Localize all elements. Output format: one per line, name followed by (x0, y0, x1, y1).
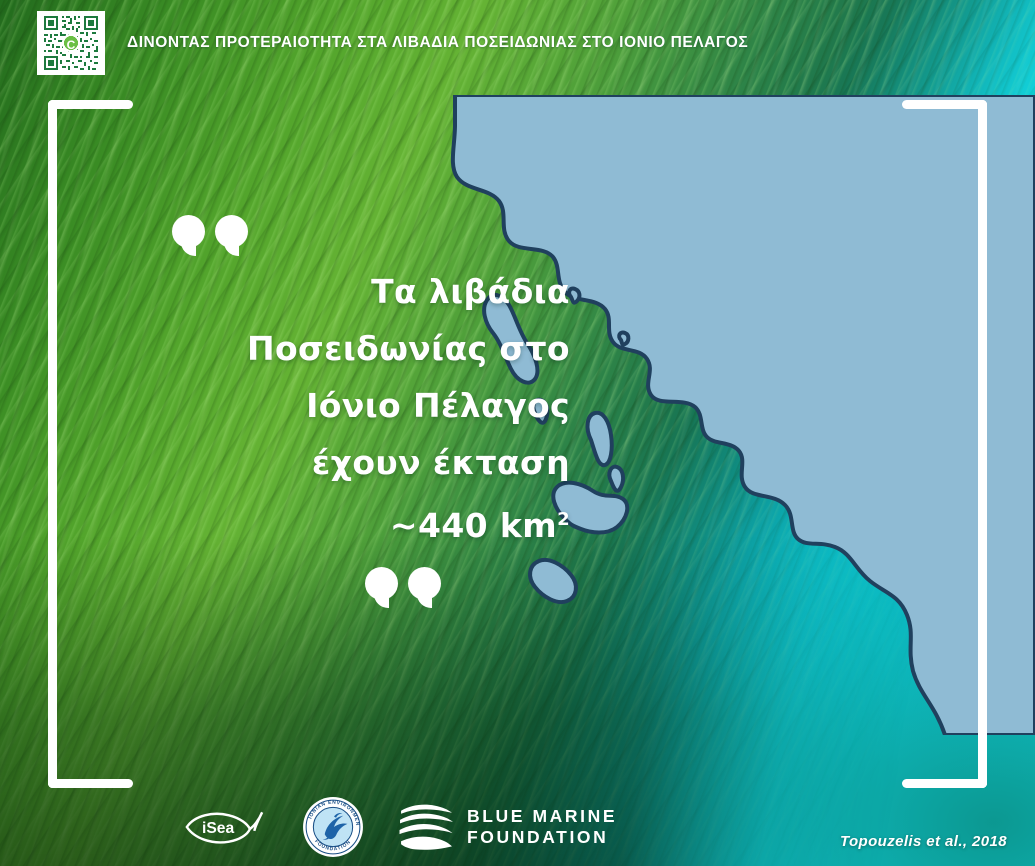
quote-line-3: Ιόνιο Πέλαγος (150, 377, 570, 434)
isea-logo[interactable]: iSea (180, 804, 268, 850)
blue-marine-foundation-logo[interactable]: BLUE MARINE FOUNDATION (398, 802, 617, 852)
quote-line-2: Ποσειδωνίας στο (150, 320, 570, 377)
quote-block: Τα λιβάδια Ποσειδωνίας στο Ιόνιο Πέλαγος… (150, 215, 570, 600)
quote-superscript: 2 (557, 509, 570, 530)
quote-line-1: Τα λιβάδια (150, 263, 570, 320)
bmf-logo-text: BLUE MARINE FOUNDATION (467, 806, 617, 848)
quote-line-5: ~440 km2 (150, 491, 570, 554)
page-title: ΔΙΝΟΝΤΑΣ ΠΡΟΤΕΡΑΙΟΤΗΤΑ ΣΤΑ ΛΙΒΑΔΙΑ ΠΟΣΕΙ… (127, 34, 748, 52)
ionian-environment-foundation-logo[interactable]: IONIAN ENVIRONMENT FOUNDATION (302, 796, 364, 858)
opening-quote-icon (172, 215, 570, 255)
bmf-wave-icon (398, 802, 454, 852)
quote-line-4: έχουν έκταση (150, 434, 570, 491)
qr-center-letter: C (67, 37, 76, 51)
source-credit: Topouzelis et al., 2018 (840, 833, 1007, 850)
partner-logos: iSea IONIAN ENVIRONMENT FOUNDATION (180, 796, 617, 858)
qr-code-icon[interactable]: C (37, 11, 105, 75)
isea-logo-text: iSea (202, 820, 234, 837)
header-bar: C ΔΙΝΟΝΤΑΣ ΠΡΟΤΕΡΑΙΟΤΗΤΑ ΣΤΑ ΛΙΒΑΔΙΑ ΠΟΣ… (0, 0, 1035, 85)
closing-quote-icon (365, 560, 570, 600)
poster-canvas: C ΔΙΝΟΝΤΑΣ ΠΡΟΤΕΡΑΙΟΤΗΤΑ ΣΤΑ ΛΙΒΑΔΙΑ ΠΟΣ… (0, 0, 1035, 866)
bmf-line-2: FOUNDATION (467, 827, 617, 848)
bmf-line-1: BLUE MARINE (467, 806, 617, 827)
quote-text: Τα λιβάδια Ποσειδωνίας στο Ιόνιο Πέλαγος… (150, 263, 570, 554)
footer-bar: iSea IONIAN ENVIRONMENT FOUNDATION (0, 788, 1035, 866)
quote-area-value: ~440 km (390, 506, 557, 545)
